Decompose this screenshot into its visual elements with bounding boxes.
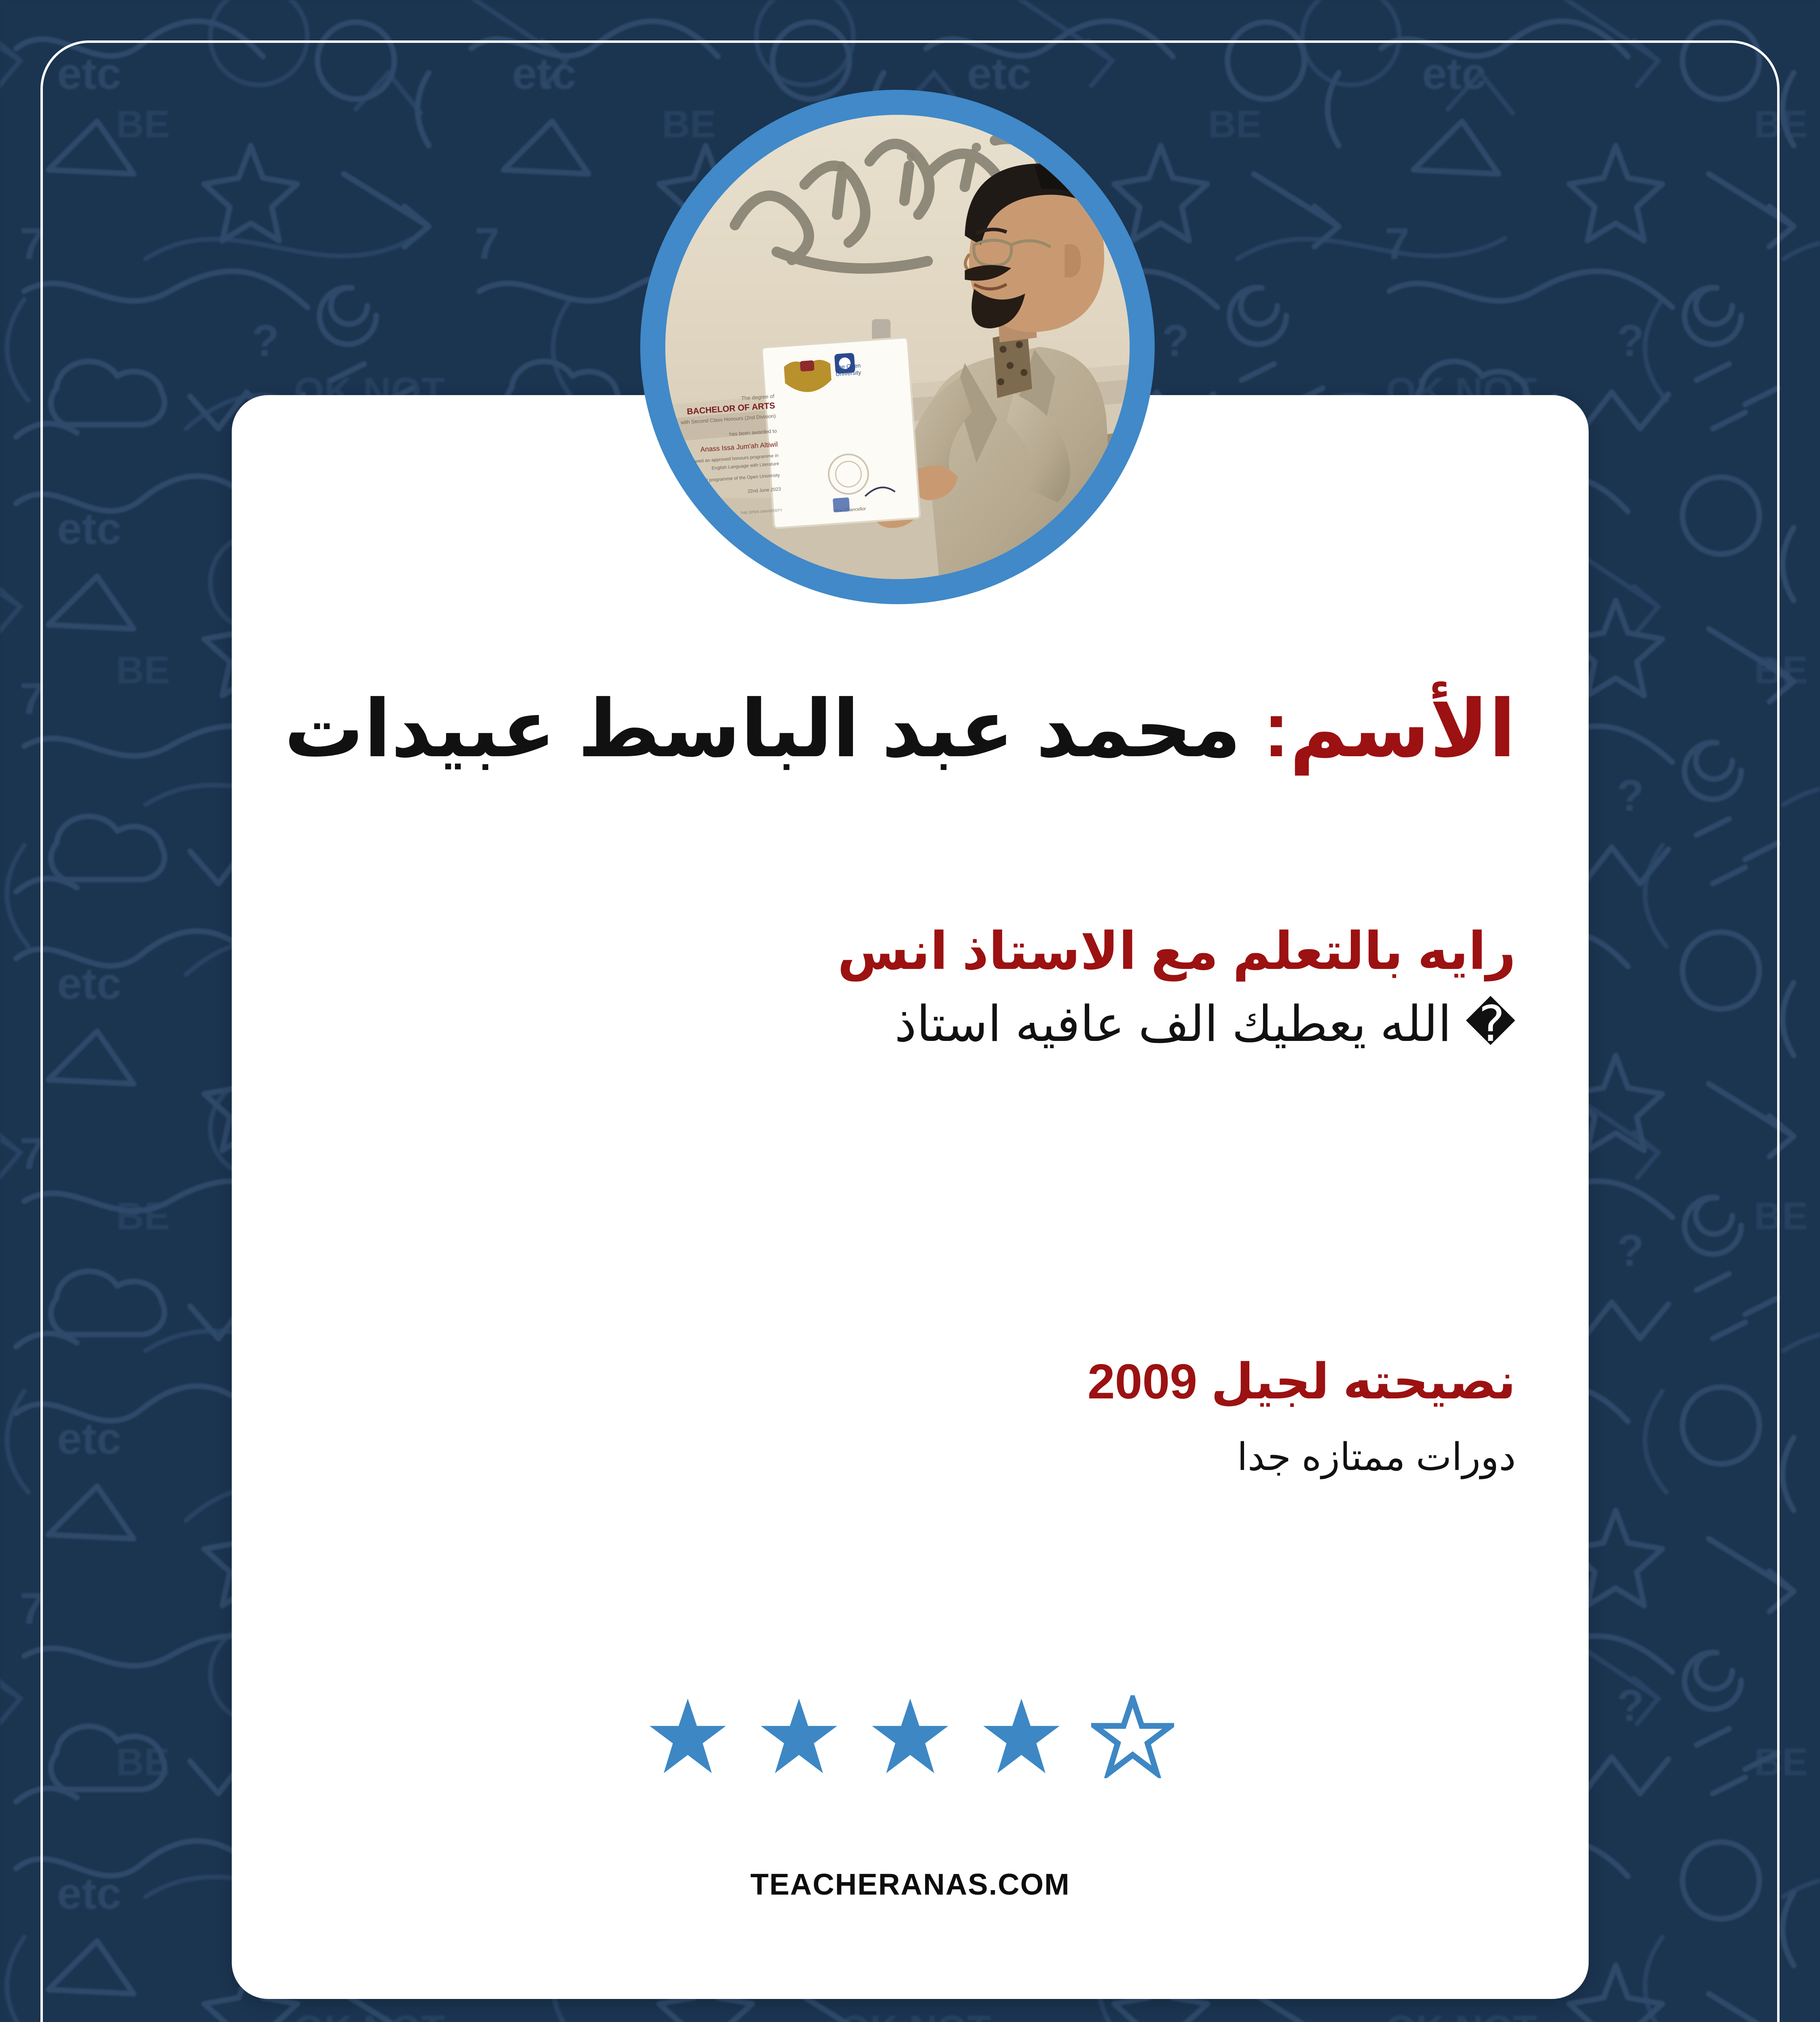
testimonial-poster: etc ? 7 OK NOT <box>0 0 1820 2022</box>
person-name-label: الأسم: <box>1263 685 1516 773</box>
star-rating[interactable] <box>232 1695 1589 1778</box>
opinion-body: � الله يعطيك الف عافيه استاذ <box>305 994 1516 1053</box>
person-name-row: الأسم: محمد عبد الباسط عبيدات <box>305 685 1516 774</box>
opinion-heading: رايه بالتعلم مع الاستاذ انس <box>305 921 1516 982</box>
testimonial-content: الأسم: محمد عبد الباسط عبيدات رايه بالتع… <box>232 395 1589 1999</box>
advice-body: دورات ممتازه جدا <box>305 1434 1516 1480</box>
avatar: The Open University The degree of BACHEL… <box>640 90 1155 604</box>
star-filled-icon-2[interactable] <box>758 1695 840 1778</box>
star-empty-icon-5[interactable] <box>1091 1695 1174 1778</box>
person-name-value: محمد عبد الباسط عبيدات <box>284 685 1241 773</box>
avatar-photo: The Open University The degree of BACHEL… <box>665 115 1130 579</box>
advice-heading: نصيحته لجيل 2009 <box>305 1353 1516 1411</box>
star-filled-icon-4[interactable] <box>980 1695 1063 1778</box>
star-filled-icon-3[interactable] <box>869 1695 952 1778</box>
star-filled-icon-1[interactable] <box>646 1695 729 1778</box>
website-url[interactable]: TEACHERANAS.COM <box>232 1867 1589 1901</box>
